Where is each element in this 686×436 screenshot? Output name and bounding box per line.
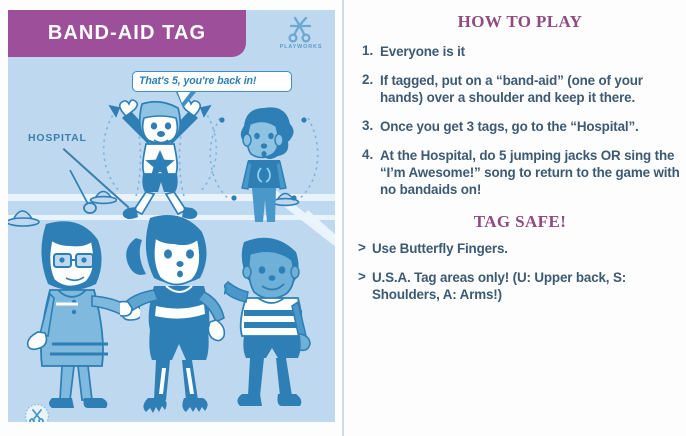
tag-safe-list: > Use Butterfly Fingers. > U.S.A. Tag ar… — [358, 240, 682, 303]
poster-page: BAND-AID TAG PLAYWORKS HOSPITAL — [0, 0, 686, 436]
step-text: At the Hospital, do 5 jumping jacks OR s… — [380, 147, 682, 198]
bullet-marker: > — [358, 269, 372, 303]
illustration-card: BAND-AID TAG PLAYWORKS HOSPITAL — [8, 10, 335, 422]
step-text: Once you get 3 tags, go to the “Hospital… — [380, 118, 639, 135]
girl-ponytail-center-figure — [120, 210, 240, 422]
hospital-label: HOSPITAL — [28, 132, 87, 144]
step-number: 1. — [358, 43, 380, 60]
jumping-jack-boy-figure — [96, 92, 224, 222]
step-text: Everyone is it — [380, 43, 465, 60]
list-item: 1. Everyone is it — [358, 43, 682, 60]
tag-safe-heading: TAG SAFE! — [358, 212, 682, 232]
brand-wordmark: PLAYWORKS — [280, 44, 323, 50]
step-number: 2. — [358, 72, 380, 106]
speech-bubble: That's 5, you're back in! — [132, 71, 292, 92]
brand-logo: PLAYWORKS — [272, 16, 330, 58]
list-item: > Use Butterfly Fingers. — [358, 240, 682, 257]
speech-bubble-text: That's 5, you're back in! — [139, 75, 285, 87]
safe-rule-text: Use Butterfly Fingers. — [372, 240, 508, 257]
how-to-play-heading: HOW TO PLAY — [358, 12, 682, 32]
step-number: 3. — [358, 118, 380, 135]
page-title: BAND-AID TAG — [48, 22, 206, 45]
bullet-marker: > — [358, 240, 372, 257]
standing-kid-afro-figure — [208, 102, 320, 226]
list-item: 2. If tagged, put on a “band-aid” (one o… — [358, 72, 682, 106]
how-to-play-list: 1. Everyone is it 2. If tagged, put on a… — [358, 43, 682, 198]
safe-rule-text: U.S.A. Tag areas only! (U: Upper back, S… — [372, 269, 682, 303]
list-item: 4. At the Hospital, do 5 jumping jacks O… — [358, 147, 682, 198]
step-number: 4. — [358, 147, 380, 198]
boy-right-figure — [224, 232, 332, 418]
step-text: If tagged, put on a “band-aid” (one of y… — [380, 72, 682, 106]
panel-divider — [342, 0, 344, 436]
list-item: 3. Once you get 3 tags, go to the “Hospi… — [358, 118, 682, 135]
playworks-seal-icon — [24, 403, 50, 422]
playworks-scissors-figure-icon — [286, 16, 316, 43]
instructions-panel: HOW TO PLAY 1. Everyone is it 2. If tagg… — [352, 0, 686, 436]
poster-title-bar: BAND-AID TAG — [8, 10, 246, 57]
list-item: > U.S.A. Tag areas only! (U: Upper back,… — [358, 269, 682, 303]
